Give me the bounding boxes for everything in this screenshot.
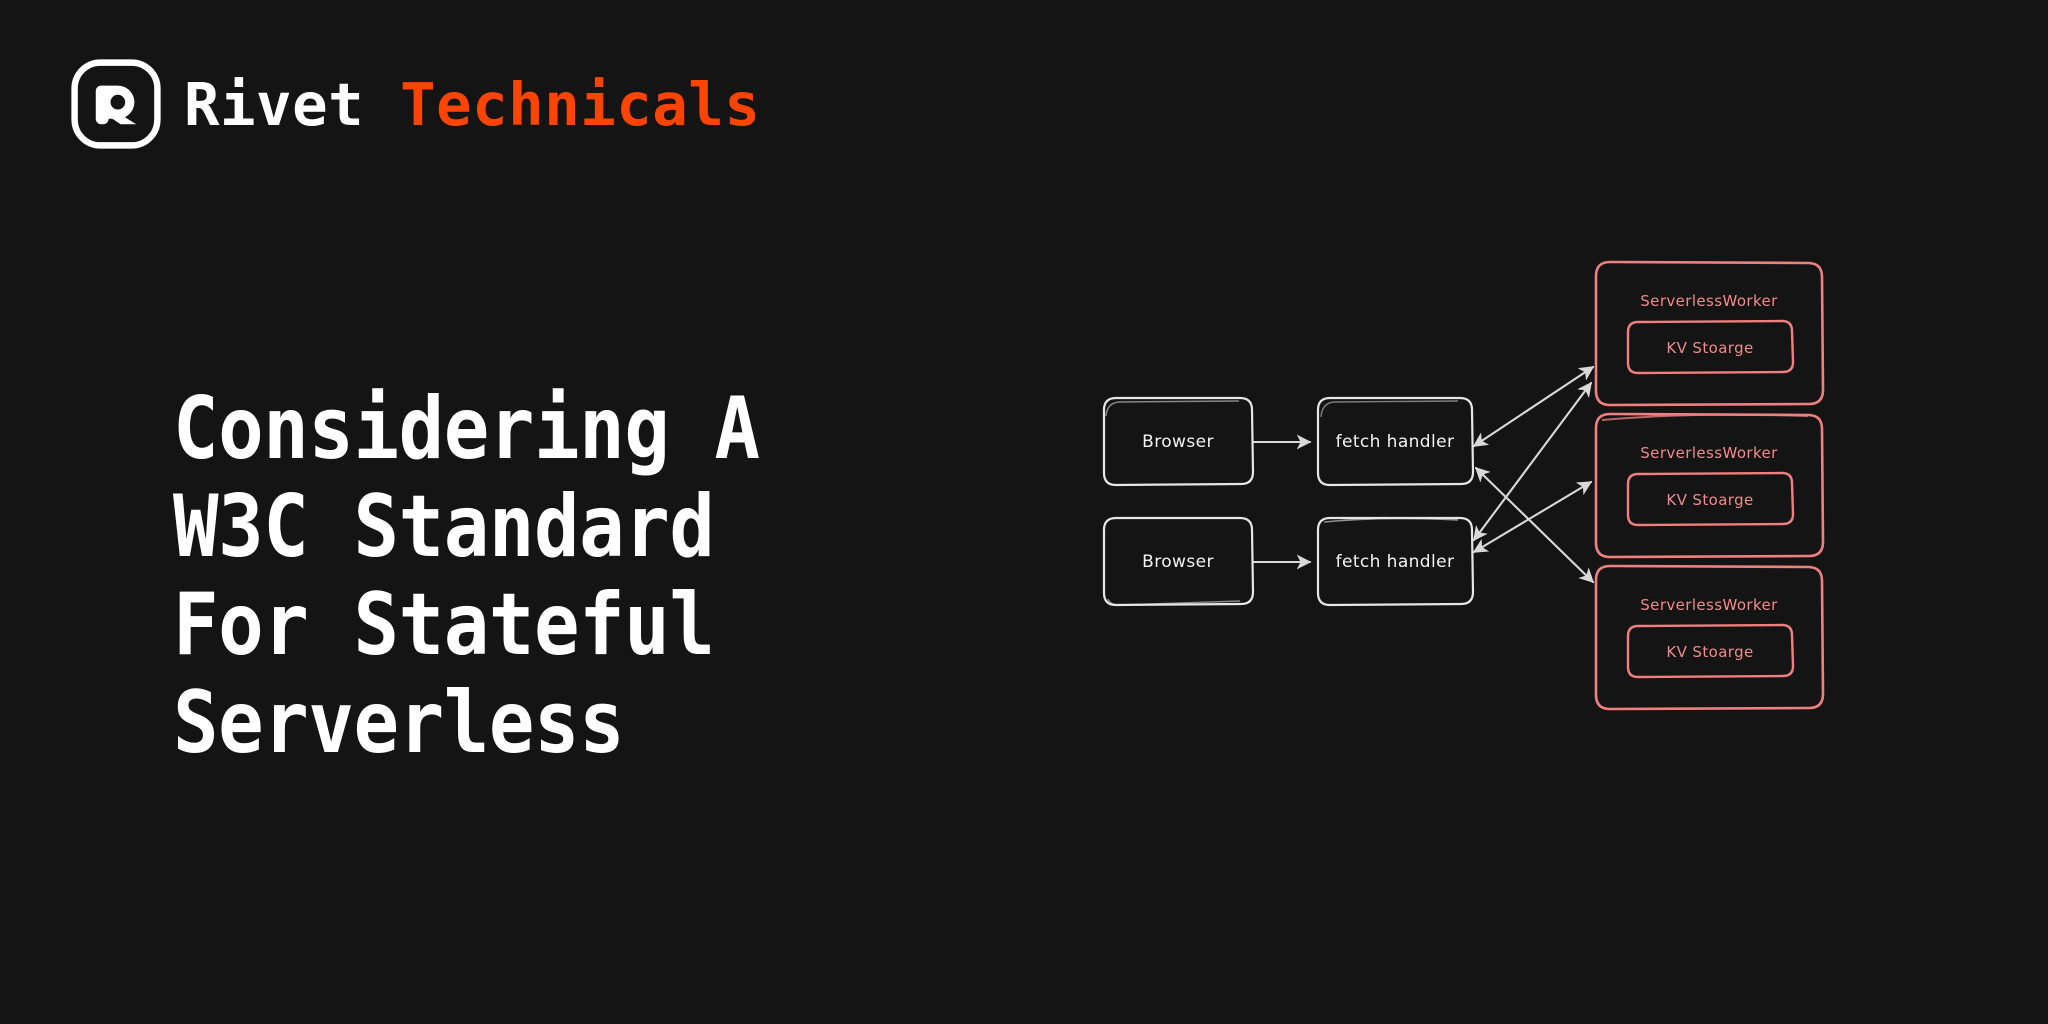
browser-1-label: Browser [1142, 432, 1214, 452]
fetch-handler-2-label: fetch handler [1336, 552, 1455, 572]
brand-wordmark-space [364, 75, 400, 134]
brand-subtitle: Technicals [400, 75, 760, 134]
node-browser-2: Browser [1104, 518, 1253, 605]
serverless-worker-1-kv-storage: KV Stoarge [1628, 321, 1793, 373]
page-title: Considering A W3C Standard For Stateful … [173, 380, 903, 772]
serverless-worker-2-sketch-stroke [1602, 415, 1808, 420]
brand-wordmark: Rivet Technicals [184, 75, 760, 134]
serverless-worker-3-kv-storage: KV Stoarge [1628, 625, 1793, 677]
rivet-r-logo-icon [70, 58, 162, 150]
poster-canvas: Rivet Technicals Considering A W3C Stand… [0, 0, 2048, 1024]
fetch-handler-1-sketch-stroke [1321, 401, 1458, 417]
node-serverless-worker-3: ServerlessWorker KV Stoarge [1596, 566, 1823, 709]
serverless-worker-1-kv-label: KV Stoarge [1666, 339, 1753, 357]
node-fetch-handler-2: fetch handler [1318, 518, 1473, 605]
serverless-worker-3-border [1596, 566, 1823, 709]
diagram-svg: Browser Browser fetch handler fetch hand… [1040, 250, 1920, 770]
serverless-worker-3-kv-label: KV Stoarge [1666, 643, 1753, 661]
serverless-worker-2-border [1596, 414, 1823, 557]
node-fetch-handler-1: fetch handler [1318, 398, 1473, 485]
serverless-worker-3-label: ServerlessWorker [1640, 596, 1778, 614]
node-serverless-worker-2: ServerlessWorker KV Stoarge [1596, 414, 1823, 557]
browser-2-label: Browser [1142, 552, 1214, 572]
serverless-worker-2-label: ServerlessWorker [1640, 444, 1778, 462]
serverless-worker-2-kv-storage: KV Stoarge [1628, 473, 1793, 525]
brand-header: Rivet Technicals [70, 58, 760, 150]
browser-1-sketch-stroke [1106, 401, 1239, 416]
serverless-worker-1-border [1596, 262, 1823, 405]
edge-fetch1-to-worker3 [1476, 468, 1593, 582]
node-browser-1: Browser [1104, 398, 1253, 485]
serverless-worker-2-kv-label: KV Stoarge [1666, 491, 1753, 509]
brand-name: Rivet [184, 75, 364, 134]
architecture-diagram: Browser Browser fetch handler fetch hand… [1040, 250, 1920, 770]
diagram-edges [1254, 367, 1593, 582]
serverless-worker-1-label: ServerlessWorker [1640, 292, 1778, 310]
node-serverless-worker-1: ServerlessWorker KV Stoarge [1596, 262, 1823, 405]
fetch-handler-1-label: fetch handler [1336, 432, 1455, 452]
edge-fetch1-to-worker1 [1474, 367, 1593, 446]
